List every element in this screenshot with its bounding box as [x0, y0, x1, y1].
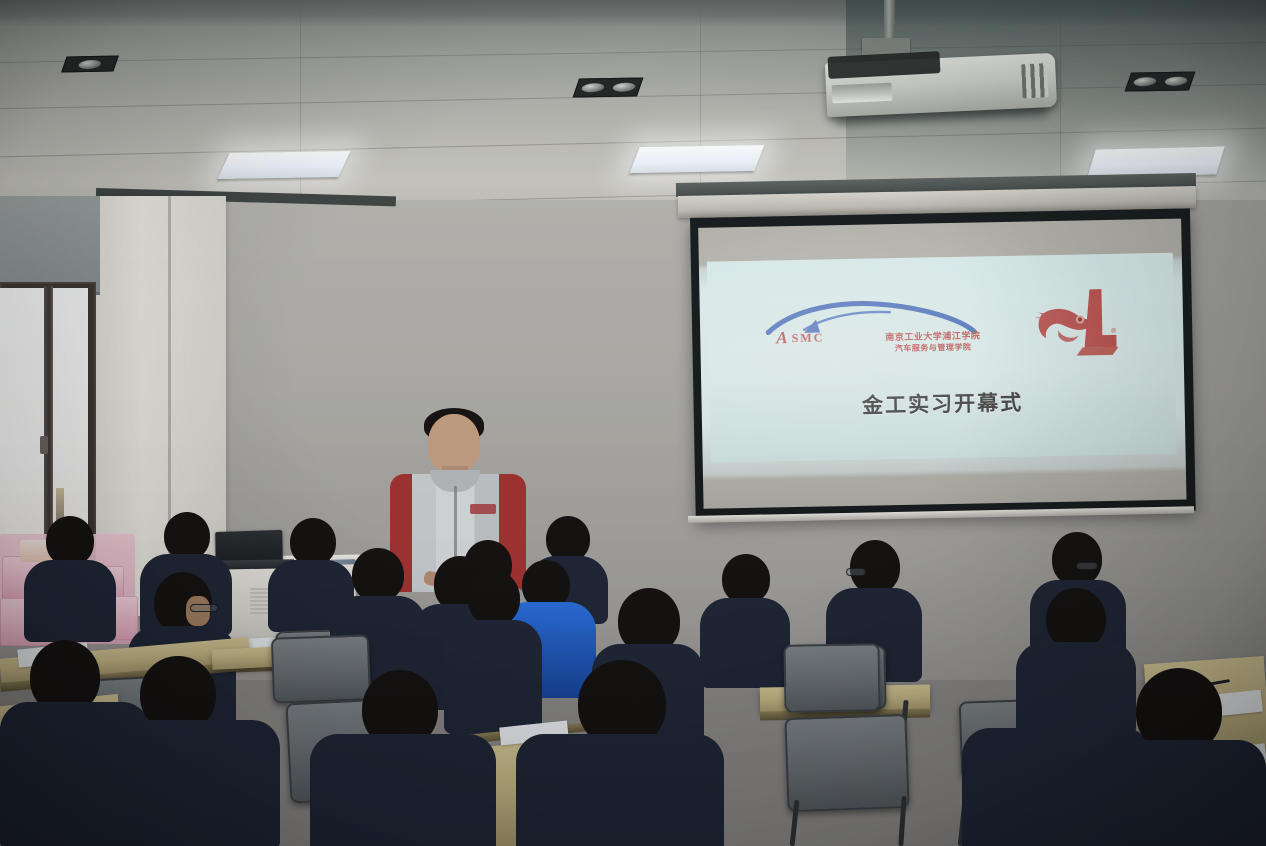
- student-right-mid: [1016, 588, 1136, 728]
- asmc-wordmark: A SMC: [776, 328, 824, 346]
- projector-mount-pole: [884, 0, 895, 42]
- college-department-name: 汽车服务与管理学院: [885, 342, 980, 354]
- student-uniform: [24, 560, 116, 642]
- classroom-photograph: A SMC 南京工业大学浦江学院 汽车服务与管理学院: [0, 0, 1266, 846]
- student-head: [164, 512, 210, 560]
- roller-blind[interactable]: [0, 196, 100, 295]
- student-head: [1046, 588, 1106, 650]
- window-latch[interactable]: [40, 436, 48, 454]
- recessed-spot-fixture: [61, 56, 119, 73]
- recessed-spot-fixture: [1125, 71, 1196, 91]
- student-head: [352, 548, 404, 602]
- jacket-logo: [470, 504, 496, 514]
- student-uniform: [516, 734, 724, 846]
- student-uniform: [310, 734, 496, 846]
- grey-stacking-chair[interactable]: [783, 643, 880, 713]
- recessed-panel-light: [630, 145, 765, 173]
- asmc-college-logo: A SMC 南京工业大学浦江学院 汽车服务与管理学院: [762, 294, 981, 360]
- projected-slide: A SMC 南京工业大学浦江学院 汽车服务与管理学院: [707, 253, 1177, 463]
- student-head: [46, 516, 94, 566]
- slide-logo-row: A SMC 南京工业大学浦江学院 汽车服务与管理学院: [707, 283, 1174, 368]
- student-eyeglasses: [846, 568, 866, 576]
- projector-lens-housing: [832, 83, 893, 104]
- student-head: [722, 554, 770, 604]
- asmc-letters-smc: SMC: [792, 330, 825, 346]
- dragon-l-mark-icon: [1031, 284, 1120, 362]
- student-head: [850, 540, 900, 594]
- registered-trademark-symbol: ®: [1111, 327, 1116, 334]
- student-front-center: [516, 660, 724, 846]
- red-dragon-l-logo: ®: [1031, 284, 1120, 362]
- pull-down-projector-screen[interactable]: A SMC 南京工业大学浦江学院 汽车服务与管理学院: [690, 208, 1196, 520]
- asmc-letter-a: A: [776, 329, 788, 346]
- student-uniform: [1090, 740, 1266, 846]
- student-head: [468, 570, 520, 626]
- presenter-head: [428, 414, 480, 474]
- student-front-left: [100, 656, 280, 846]
- student-uniform: [100, 720, 280, 846]
- student-eyeglasses: [1076, 562, 1098, 570]
- screen-surface: A SMC 南京工业大学浦江学院 汽车服务与管理学院: [698, 219, 1186, 509]
- slide-title: 金工实习开幕式: [862, 386, 1024, 419]
- student-eyeglasses: [190, 604, 218, 612]
- asmc-chinese-text: 南京工业大学浦江学院 汽车服务与管理学院: [885, 331, 980, 354]
- grey-stacking-chair[interactable]: [784, 714, 909, 812]
- student-head: [1052, 532, 1102, 586]
- student-uniform: [1016, 642, 1136, 736]
- student-back-far-left: [24, 516, 116, 640]
- recessed-panel-light: [217, 151, 350, 179]
- recessed-spot-fixture: [573, 77, 644, 97]
- student-front-center-left: [310, 670, 496, 846]
